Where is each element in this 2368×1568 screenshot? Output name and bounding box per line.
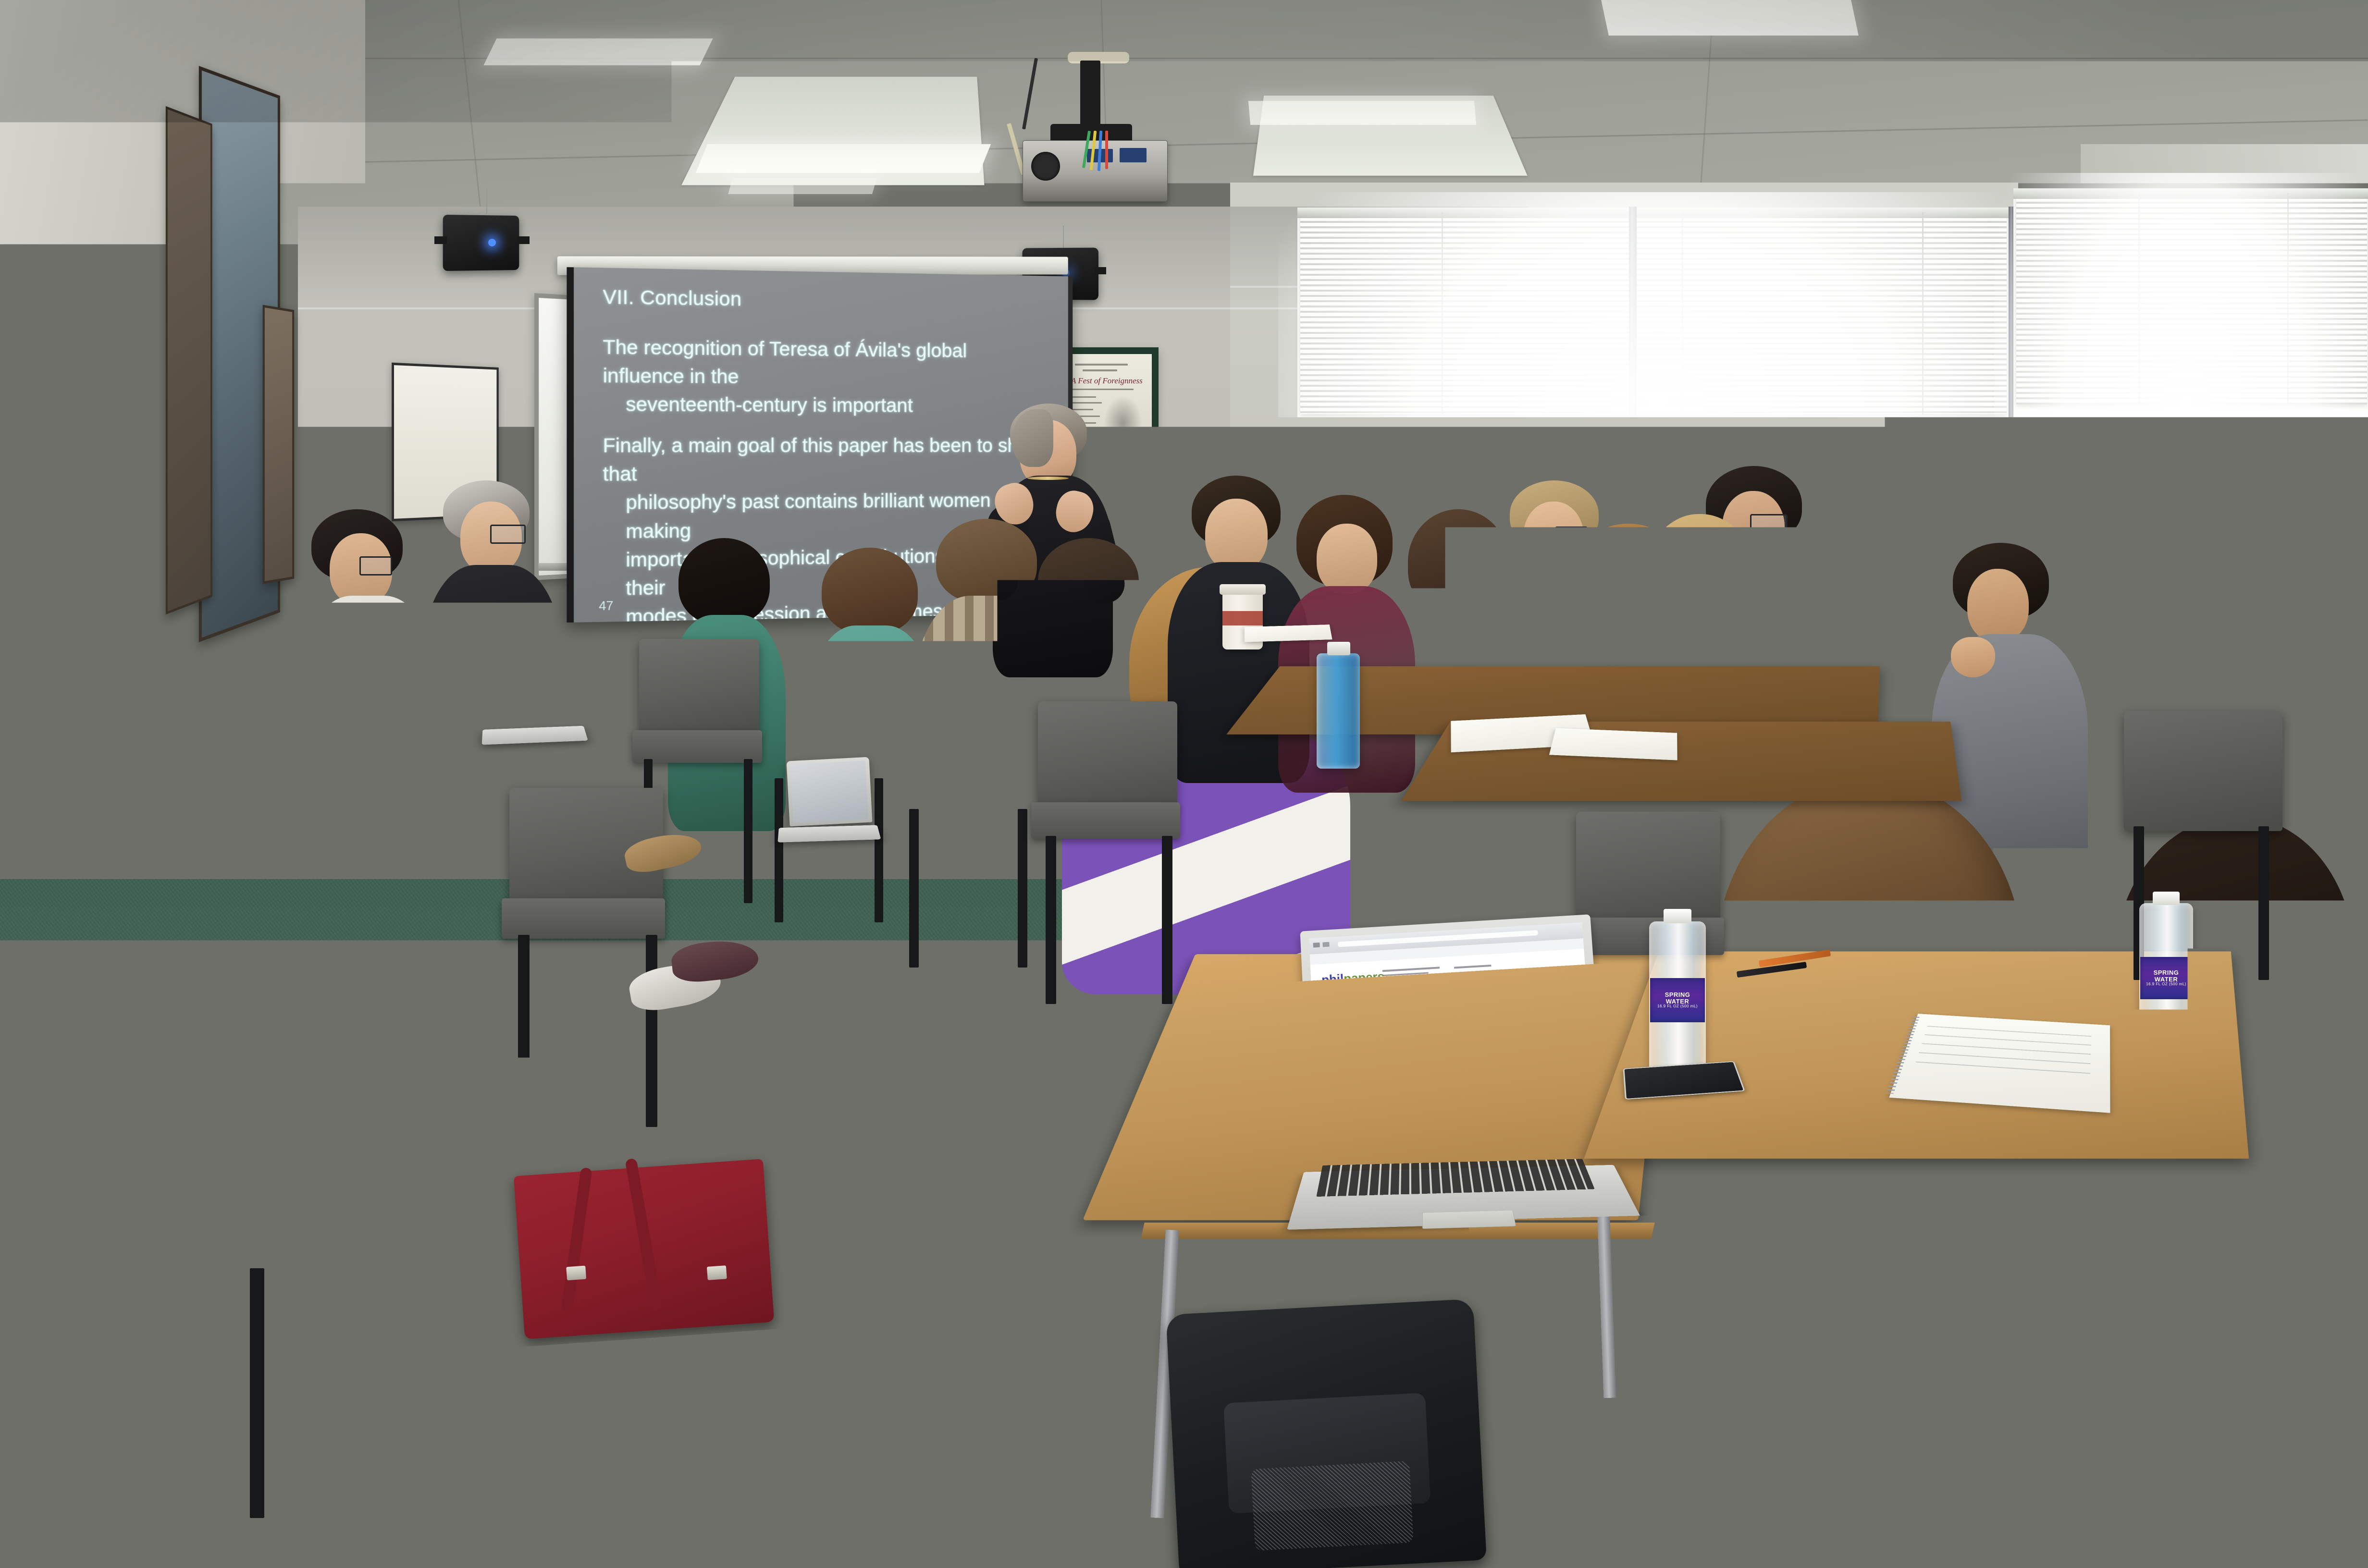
speaker-bracket [517, 236, 530, 244]
projector-mount-pole [1080, 61, 1100, 128]
bottle-brand-line-1: SPRING [1665, 992, 1690, 998]
slide-line: The recognition of Teresa of Ávila's glo… [603, 336, 967, 388]
buckle [1361, 672, 1374, 681]
chair-leg [1046, 836, 1056, 1004]
bottle-cap[interactable] [1664, 909, 1691, 923]
blind-headrail [1297, 208, 2013, 218]
chair-leg [875, 778, 883, 922]
dock-icon-appstore[interactable] [1426, 1122, 1433, 1129]
cup-sleeve [1222, 611, 1263, 625]
dock-icon-finder[interactable] [1369, 1125, 1376, 1132]
laptop-lap-lid [490, 655, 580, 728]
chair-leg [775, 778, 783, 922]
bottle-brand-line-2: WATER [2155, 976, 2178, 983]
blind-cord [1682, 212, 1683, 414]
chair-seat[interactable] [1031, 802, 1180, 839]
ceiling-light-panel [1601, 0, 1859, 36]
dock-icon-messages[interactable] [1393, 1124, 1400, 1131]
spiral-notebook[interactable] [1889, 1014, 2110, 1113]
window-blinds-right [2016, 193, 2367, 404]
stacked-book[interactable] [1245, 625, 1332, 642]
backpack[interactable] [1166, 1299, 1487, 1568]
dock-icon-trash[interactable] [1459, 1119, 1466, 1127]
laptop-display[interactable]: philpapers Descartes' Aunt, or Teresa of… [1309, 922, 1596, 1139]
chair-seat[interactable] [897, 778, 1036, 813]
cup-lid [1220, 584, 1266, 595]
browser-back-icon[interactable] [1313, 943, 1320, 948]
blind-cord [2287, 193, 2289, 404]
dock-icon-itunes[interactable] [1443, 1120, 1450, 1127]
projector-vga-cable [1105, 131, 1108, 169]
chair-right[interactable] [2124, 711, 2282, 831]
hand-on-chin [1951, 637, 1995, 677]
bag-buckle [566, 1266, 586, 1281]
speaker-wire [1063, 226, 1064, 248]
chair[interactable] [903, 682, 1033, 783]
conference-room-photo: A Fest of Foreignness 12 1 2 3 4 5 6 7 8 [0, 0, 2368, 1568]
bottle-volume: 16.9 FL OZ (500 mL) [2146, 982, 2186, 986]
bottle-cap[interactable] [1327, 642, 1350, 655]
chair-leg [518, 935, 530, 1127]
dock-icon-launchpad[interactable] [1377, 1125, 1384, 1132]
chair-leg [1018, 809, 1027, 968]
ceiling-light-panel [728, 178, 877, 194]
blind-cord [1442, 212, 1443, 414]
slide-number: 47 [599, 598, 613, 613]
logo-papers: papers [1343, 969, 1384, 986]
logo-phil: phil [1321, 971, 1344, 987]
red-handbag[interactable] [514, 1159, 774, 1339]
chair-leg [909, 809, 919, 968]
bag-buckle [707, 1265, 727, 1280]
hand [2061, 1153, 2148, 1225]
speaker-wire [486, 187, 487, 214]
blind-cord [2138, 193, 2140, 404]
dock-icon-photos[interactable] [1434, 1121, 1442, 1128]
chair[interactable] [1038, 701, 1177, 807]
sponsor-logo-2[interactable] [1538, 1026, 1551, 1043]
ceiling-light-panel [696, 144, 991, 173]
bag-strap [561, 1167, 592, 1311]
projector-lens [1031, 152, 1060, 181]
eyeglasses-icon [490, 525, 526, 544]
bag-strap [625, 1158, 663, 1311]
chair-leg [250, 1268, 264, 1518]
projector-port [1120, 148, 1147, 162]
dock-icon-settings[interactable] [1451, 1120, 1458, 1127]
chair-foreground[interactable] [269, 1139, 452, 1278]
wall-speaker-left [443, 215, 519, 271]
chair[interactable] [1576, 812, 1720, 922]
laptop-lid: philpapers Descartes' Aunt, or Teresa of… [1300, 914, 1605, 1151]
loose-papers[interactable] [1549, 728, 1677, 760]
dock-icon-notes[interactable] [1418, 1122, 1425, 1129]
blind-cord [1922, 212, 1924, 414]
ceiling-light-panel [483, 38, 713, 65]
speaker-power-led [488, 239, 496, 246]
speaker-bracket [1095, 267, 1106, 274]
chair-leg [1162, 836, 1172, 1004]
buckle [1301, 674, 1314, 684]
outdoor-tree [2081, 480, 2225, 625]
chair-seat[interactable] [632, 730, 762, 763]
sponsor-logo-r[interactable] [1538, 1061, 1553, 1078]
chair-leg [744, 759, 752, 903]
presenter-necklace [1027, 477, 1069, 480]
eyeglasses-icon [359, 556, 392, 576]
dock-icon-mail[interactable] [1409, 1123, 1417, 1130]
bottle-brand-line-1: SPRING [2154, 969, 2179, 976]
presenter-hair-side [1012, 409, 1053, 467]
framed-artwork-small [263, 305, 295, 584]
speaker-bracket [434, 236, 447, 244]
laptop-back-display[interactable] [790, 760, 868, 823]
bottle-brand-line-2: WATER [1666, 998, 1689, 1005]
backpack-mesh-panel [1251, 1461, 1413, 1551]
ceiling-light-panel [1248, 101, 1476, 125]
chair[interactable] [639, 639, 759, 735]
window-blinds [1300, 212, 2007, 414]
bottle-volume: 16.9 FL OZ (500 mL) [1657, 1004, 1698, 1008]
chair[interactable] [769, 658, 889, 754]
bottle-label: SPRING WATER 16.9 FL OZ (500 mL) [2140, 957, 2192, 999]
slide-heading: VII. Conclusion [603, 285, 742, 310]
blind-headrail [2013, 188, 2368, 199]
chair-foreground-dark[interactable] [1711, 1384, 1961, 1568]
dock-icon-safari[interactable] [1385, 1124, 1392, 1131]
bottle-cap[interactable] [2153, 892, 2180, 905]
laptop-trackpad[interactable] [1422, 1210, 1516, 1229]
water-bottle-2[interactable]: SPRING WATER 16.9 FL OZ (500 mL) [2139, 903, 2193, 1062]
bottle-label: SPRING WATER 16.9 FL OZ (500 mL) [1650, 978, 1705, 1022]
laptop-lap-display[interactable] [494, 659, 577, 724]
chair-seat[interactable] [502, 898, 665, 939]
browser-forward-icon[interactable] [1322, 942, 1329, 947]
chair-foreground-dark-right[interactable] [2153, 1297, 2368, 1568]
framed-artwork [166, 106, 212, 614]
chair-leg [2258, 826, 2269, 980]
screen-left-edge [567, 267, 574, 623]
playbill-title: A Fest of Foreignness [1071, 376, 1143, 386]
dock-icon-calendar[interactable] [1401, 1123, 1408, 1130]
chair-leg [646, 935, 657, 1127]
laptop-back-lid [787, 757, 873, 827]
canvas-satchel[interactable] [1268, 663, 1421, 741]
